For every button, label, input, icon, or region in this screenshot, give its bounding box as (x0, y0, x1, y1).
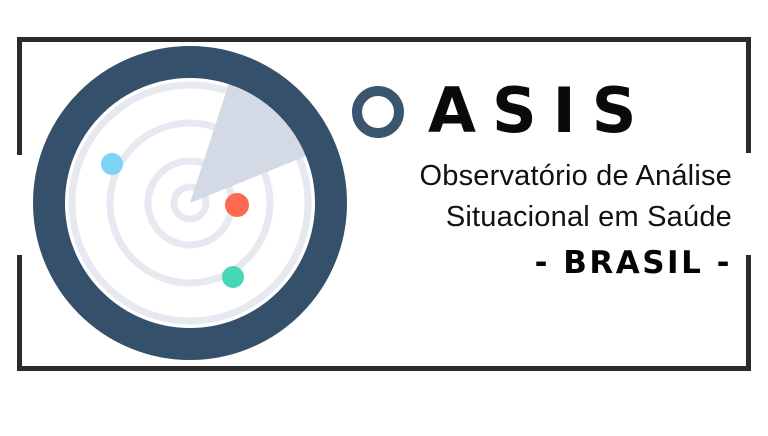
wordmark-letters: ASIS (428, 80, 652, 142)
brand-country-label: - BRASIL - (352, 245, 732, 281)
frame-right-edge-lower (746, 255, 751, 371)
radar-logo-mark (12, 25, 368, 381)
brand-subtitle-line-2: Situacional em Saúde (352, 197, 732, 238)
blip-coral-icon (225, 193, 249, 217)
blip-blue-icon (101, 153, 123, 175)
blip-teal-icon (222, 266, 244, 288)
brand-text-block: ASIS Observatório de Análise Situacional… (352, 72, 744, 281)
brand-subtitle: Observatório de Análise Situacional em S… (352, 156, 732, 238)
frame-right-edge-upper (746, 37, 751, 153)
brand-subtitle-line-1: Observatório de Análise (352, 156, 732, 197)
wordmark-o-ring-icon (352, 86, 404, 138)
logo-canvas: ASIS Observatório de Análise Situacional… (0, 0, 768, 432)
wordmark: ASIS (352, 72, 744, 150)
